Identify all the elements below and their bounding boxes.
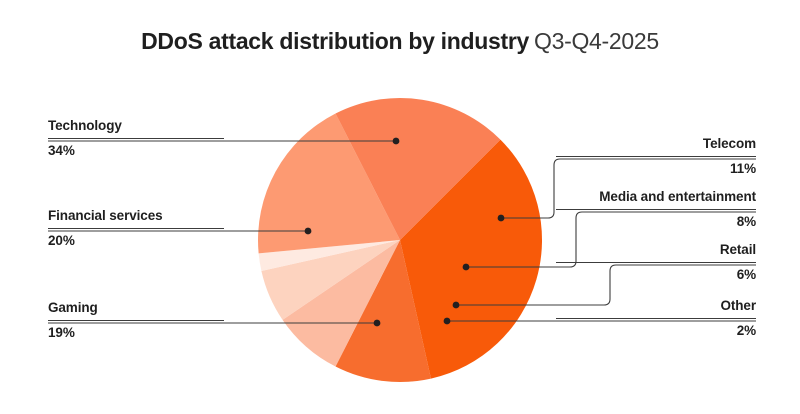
callout-retail[interactable]: Retail 6%	[556, 241, 756, 283]
callout-financial-label: Financial services	[48, 207, 224, 224]
chart-container: DDoS attack distribution by industryQ3-Q…	[0, 0, 800, 414]
callout-technology-value: 34%	[48, 142, 224, 159]
callout-other-rule	[556, 318, 756, 319]
callout-retail-value: 6%	[556, 266, 756, 283]
leader-dot-media	[463, 264, 470, 271]
callout-financial[interactable]: Financial services 20%	[48, 207, 224, 249]
callout-telecom[interactable]: Telecom 11%	[556, 135, 756, 177]
callout-gaming-rule	[48, 320, 224, 321]
callout-media-value: 8%	[556, 213, 756, 230]
leader-dot-other	[444, 318, 451, 325]
callout-other[interactable]: Other 2%	[556, 297, 756, 339]
callout-gaming[interactable]: Gaming 19%	[48, 299, 224, 341]
callout-other-value: 2%	[556, 322, 756, 339]
callout-media[interactable]: Media and entertainment 8%	[556, 188, 756, 230]
callout-telecom-value: 11%	[556, 160, 756, 177]
callout-gaming-value: 19%	[48, 324, 224, 341]
callout-financial-value: 20%	[48, 232, 224, 249]
callout-retail-label: Retail	[556, 241, 756, 258]
callout-gaming-label: Gaming	[48, 299, 224, 316]
leader-dot-financial	[305, 228, 312, 235]
leader-dot-gaming	[374, 320, 381, 327]
callout-media-rule	[556, 209, 756, 210]
callout-technology-label: Technology	[48, 117, 224, 134]
leader-dot-telecom	[498, 215, 505, 222]
callout-other-label: Other	[556, 297, 756, 314]
callout-telecom-rule	[556, 156, 756, 157]
callout-retail-rule	[556, 262, 756, 263]
callout-media-label: Media and entertainment	[556, 188, 756, 205]
leader-dot-retail	[453, 302, 460, 309]
callout-financial-rule	[48, 228, 224, 229]
callout-technology[interactable]: Technology 34%	[48, 117, 224, 159]
leader-dot-technology	[393, 138, 400, 145]
callout-telecom-label: Telecom	[556, 135, 756, 152]
callout-technology-rule	[48, 138, 224, 139]
